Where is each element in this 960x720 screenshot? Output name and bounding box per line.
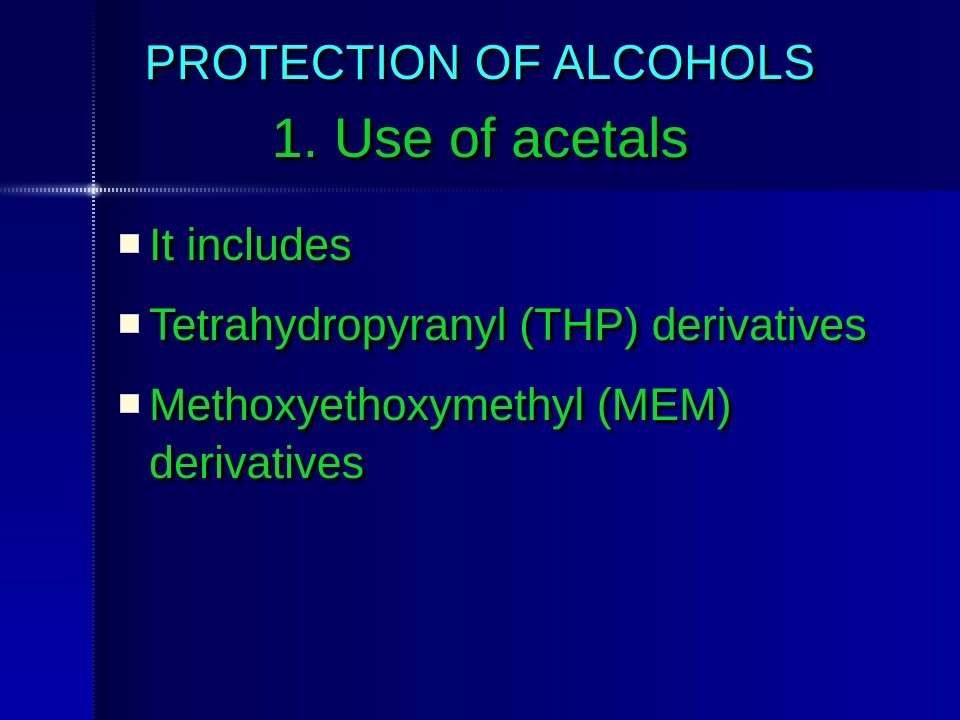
list-item: Methoxyethoxymethyl (MEM) derivatives xyxy=(120,376,920,492)
list-item-label: Methoxyethoxymethyl (MEM) derivatives xyxy=(149,376,920,492)
square-bullet-icon xyxy=(120,314,139,333)
crosshair-horizontal-icon xyxy=(0,188,960,192)
square-bullet-icon xyxy=(120,394,139,413)
crosshair-center-icon xyxy=(84,181,103,199)
bullet-list: It includes Tetrahydropyranyl (THP) deri… xyxy=(120,216,920,514)
list-item: It includes xyxy=(120,216,920,274)
slide-title: PROTECTION OF ALCOHOLS xyxy=(14,34,945,92)
square-bullet-icon xyxy=(120,234,139,253)
list-item-label: It includes xyxy=(149,216,920,274)
list-item-label: Tetrahydropyranyl (THP) derivatives xyxy=(149,296,920,354)
presentation-slide: PROTECTION OF ALCOHOLS 1. Use of acetals… xyxy=(0,0,960,720)
list-item: Tetrahydropyranyl (THP) derivatives xyxy=(120,296,920,354)
slide-subtitle: 1. Use of acetals xyxy=(0,104,960,172)
